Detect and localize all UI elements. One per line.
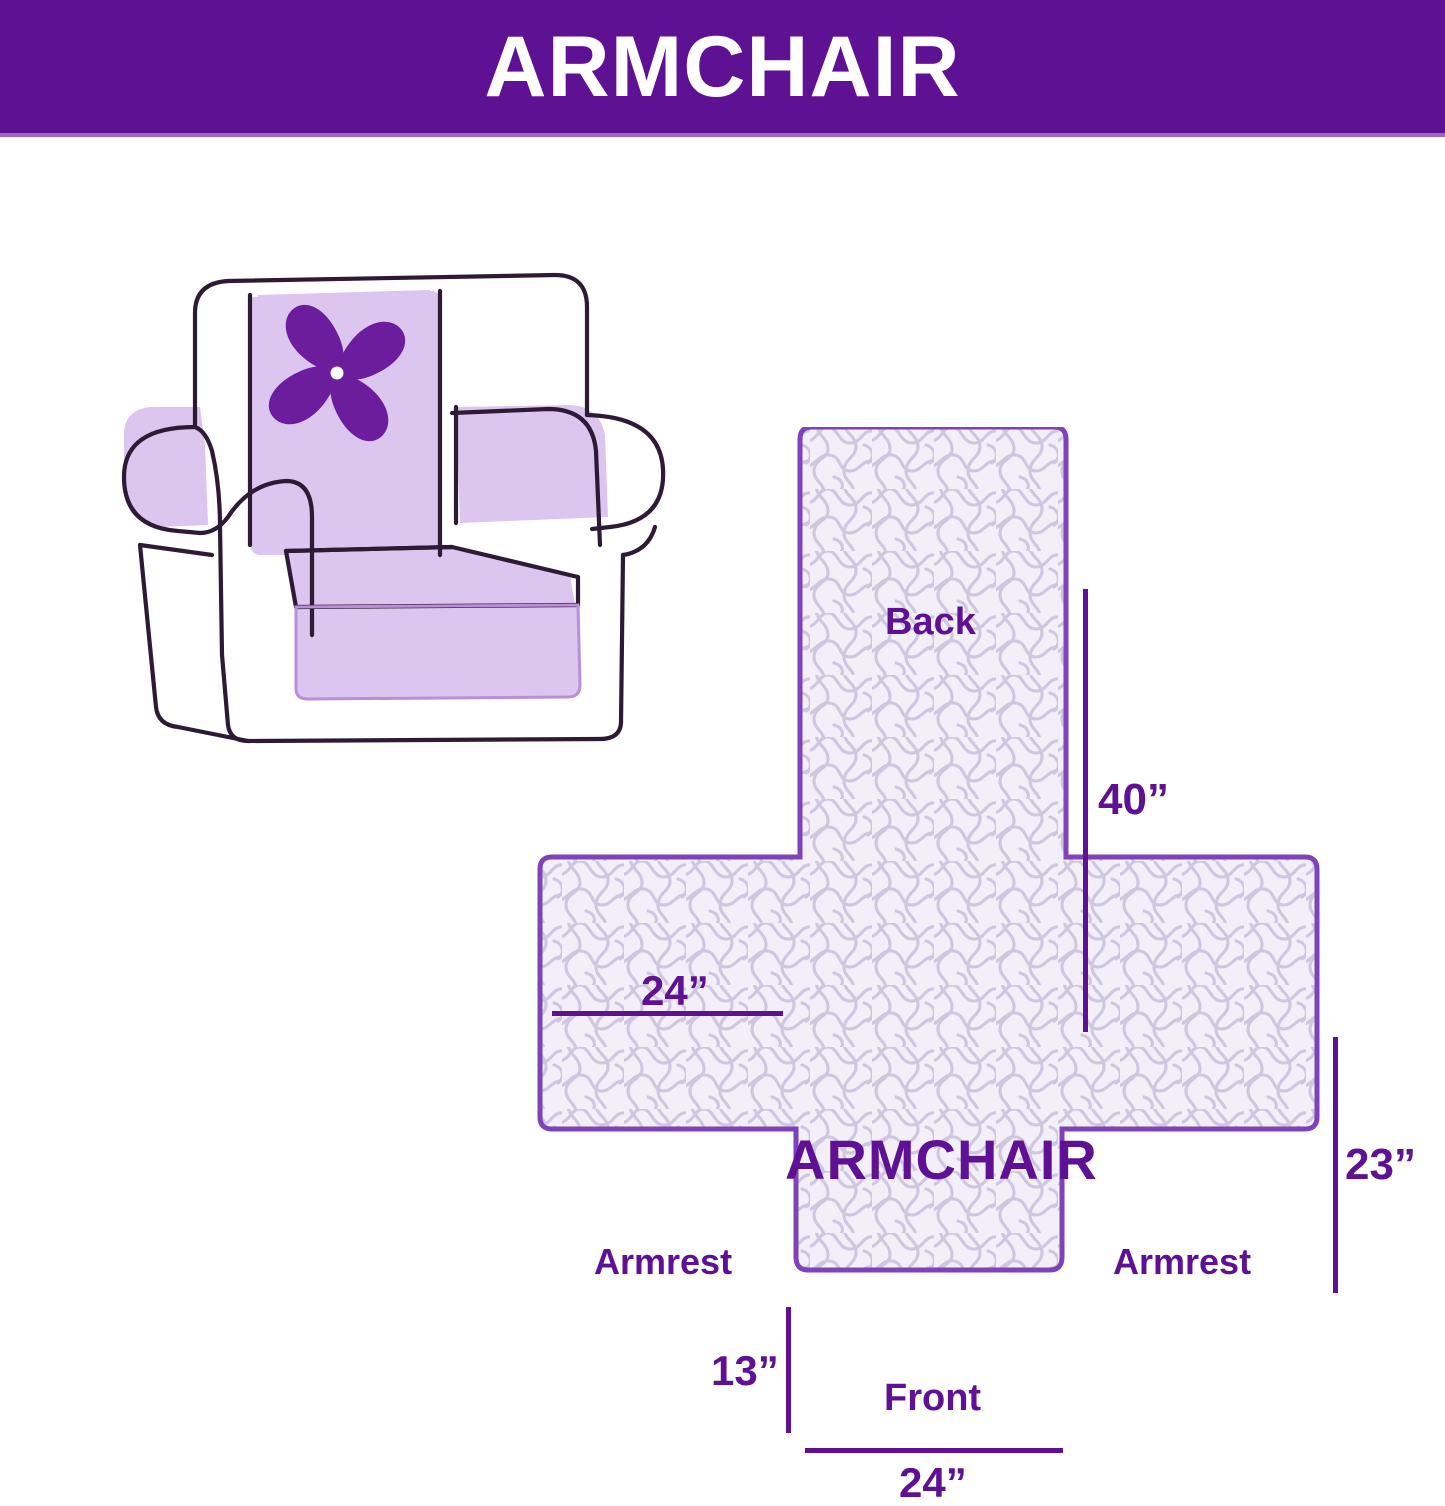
- page-title: ARMCHAIR: [484, 24, 960, 110]
- dimension-line-back-height: [1083, 589, 1088, 1032]
- dimension-line-front-width: [805, 1448, 1063, 1453]
- chair-base-left-side: [140, 545, 248, 741]
- header-banner: ARMCHAIR: [0, 0, 1445, 133]
- dimension-line-front-height: [786, 1307, 791, 1433]
- pattern-label-back: Back: [885, 603, 976, 641]
- dimension-line-seat-depth: [1333, 1037, 1338, 1293]
- dimension-label-seat-depth: 23”: [1345, 1143, 1416, 1187]
- dimension-label-front-height: 13”: [711, 1350, 779, 1392]
- dimension-label-back-width: 24”: [641, 970, 709, 1012]
- dimension-label-front-width: 24”: [899, 1462, 967, 1504]
- pattern-label-armrest-left: Armrest: [594, 1244, 732, 1280]
- pattern-label-armrest-right: Armrest: [1113, 1244, 1251, 1280]
- pattern-label-front: Front: [884, 1379, 981, 1417]
- dimension-label-back-height: 40”: [1098, 778, 1169, 822]
- chair-base-left-panel: [140, 545, 212, 555]
- pattern-label-center: ARMCHAIR: [785, 1132, 1098, 1188]
- diagram-stage: Back ARMCHAIR Armrest Armrest Front 40” …: [0, 137, 1445, 1445]
